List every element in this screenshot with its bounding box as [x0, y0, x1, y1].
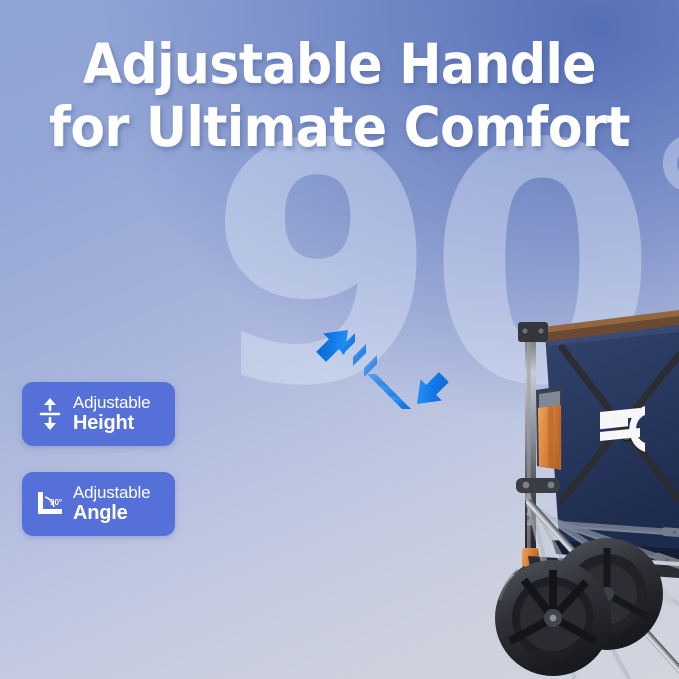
- side-pocket: [536, 386, 562, 470]
- angle-icon-degrees: 90°: [50, 498, 62, 507]
- badge-angle-bottom-label: Angle: [73, 503, 150, 524]
- telescoping-arrows: [311, 319, 455, 414]
- wagon-wheels: [495, 538, 663, 676]
- badge-angle-top-label: Adjustable: [73, 484, 150, 502]
- arrow-retract-down-chevrons: [367, 374, 411, 409]
- badge-height-top-label: Adjustable: [73, 394, 150, 412]
- badge-height-bottom-label: Height: [73, 413, 150, 434]
- angle-90-icon: 90°: [27, 481, 73, 527]
- arrow-extend-up-chevrons: [342, 333, 377, 377]
- headline-line-2: for Ultimate Comfort: [0, 97, 679, 157]
- badge-adjustable-angle[interactable]: 90° Adjustable Angle: [22, 472, 175, 536]
- badge-angle-text: Adjustable Angle: [73, 484, 150, 524]
- badge-adjustable-height[interactable]: Adjustable Height: [22, 382, 175, 446]
- promo-image: 90°: [0, 0, 679, 679]
- headline: Adjustable Handle for Ultimate Comfort: [0, 34, 679, 157]
- front-wheel: [495, 560, 611, 676]
- badge-height-text: Adjustable Height: [73, 394, 150, 434]
- headline-line-1: Adjustable Handle: [0, 34, 679, 94]
- feature-badges: Adjustable Height 90° Adjustable Angle: [22, 382, 175, 562]
- arrow-retract-down: [406, 367, 454, 415]
- height-arrows-icon: [27, 391, 73, 437]
